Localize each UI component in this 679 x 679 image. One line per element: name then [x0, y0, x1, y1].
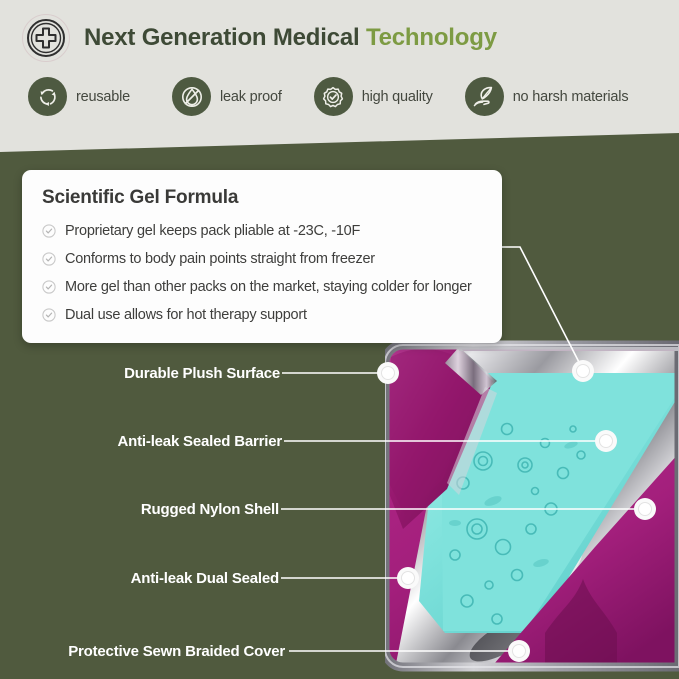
medical-cross-circle-icon	[22, 14, 70, 62]
scientific-gel-formula-card: Scientific Gel Formula Proprietary gel k…	[22, 170, 502, 343]
product-image	[385, 333, 679, 679]
recycle-icon	[28, 77, 67, 116]
feature-leak-proof: leak proof	[172, 77, 282, 116]
page-title-accent: Technology	[366, 24, 497, 51]
feature-label: reusable	[76, 89, 130, 105]
brand-row: Next Generation Medical Technology	[22, 14, 497, 62]
quality-badge-check-icon	[314, 77, 353, 116]
list-item-label: More gel than other packs on the market,…	[65, 278, 472, 296]
callout-label-braided-cover: Protective Sewn Braided Cover	[0, 643, 285, 660]
list-item: Dual use allows for hot therapy support	[42, 306, 482, 327]
callout-label-barrier: Anti-leak Sealed Barrier	[0, 433, 282, 450]
feature-label: leak proof	[220, 89, 282, 105]
feature-high-quality: high quality	[314, 77, 433, 116]
list-item-label: Proprietary gel keeps pack pliable at -2…	[65, 222, 360, 240]
hand-leaf-icon	[465, 77, 504, 116]
gel-feature-list: Proprietary gel keeps pack pliable at -2…	[42, 222, 482, 327]
check-circle-icon	[42, 308, 56, 327]
list-item: More gel than other packs on the market,…	[42, 278, 482, 299]
callout-label-shell: Rugged Nylon Shell	[0, 501, 279, 518]
check-circle-icon	[42, 252, 56, 271]
list-item: Conforms to body pain points straight fr…	[42, 250, 482, 271]
callout-label-plush: Durable Plush Surface	[0, 365, 280, 382]
feature-no-harsh-materials: no harsh materials	[465, 77, 629, 116]
page-title: Next Generation Medical Technology	[84, 26, 497, 50]
list-item: Proprietary gel keeps pack pliable at -2…	[42, 222, 482, 243]
check-circle-icon	[42, 280, 56, 299]
page-title-primary: Next Generation Medical	[84, 24, 359, 51]
feature-label: no harsh materials	[513, 89, 629, 105]
feature-badge-row: reusable leak proof	[28, 77, 668, 116]
card-title: Scientific Gel Formula	[42, 187, 482, 209]
feature-label: high quality	[362, 89, 433, 105]
list-item-label: Conforms to body pain points straight fr…	[65, 250, 375, 268]
product-illustration	[385, 333, 679, 679]
list-item-label: Dual use allows for hot therapy support	[65, 306, 307, 324]
header-band: Next Generation Medical Technology	[0, 0, 679, 155]
callout-label-dual-sealed: Anti-leak Dual Sealed	[0, 570, 279, 587]
no-leak-drop-icon	[172, 77, 211, 116]
infographic-root: Next Generation Medical Technology	[0, 0, 679, 679]
feature-reusable: reusable	[28, 77, 130, 116]
check-circle-icon	[42, 224, 56, 243]
